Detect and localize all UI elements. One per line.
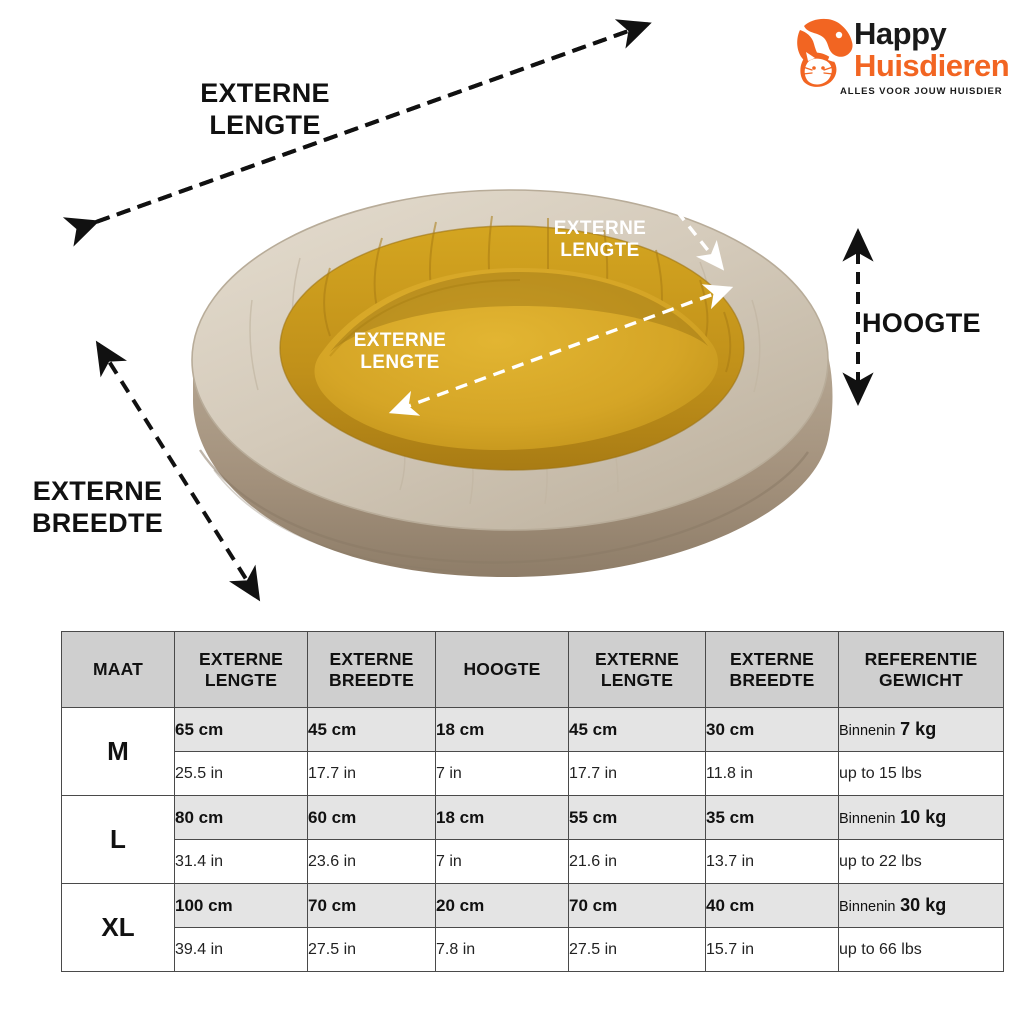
header-maat: MAAT (62, 632, 175, 708)
external-length-label: EXTERNE LENGTE (175, 78, 355, 142)
cell-xl-height-cm: 20 cm (436, 884, 569, 928)
weight-prefix-l: Binnenin (839, 811, 895, 827)
cell-xl-int-width-in: 15.7 in (706, 928, 839, 972)
cell-m-int-width-cm: 30 cm (706, 708, 839, 752)
size-label-xl: XL (62, 884, 175, 972)
cell-l-ext-width-in: 23.6 in (308, 840, 436, 884)
header-hoogte: HOOGTE (436, 632, 569, 708)
cell-l-ext-length-cm: 80 cm (175, 796, 308, 840)
cell-xl-height-in: 7.8 in (436, 928, 569, 972)
product-diagram: EXTERNE LENGTE EXTERNE BREEDTE HOOGTE EX… (0, 0, 1024, 620)
internal-length-left-label: EXTERNE LENGTE (330, 330, 470, 375)
table-row: 31.4 in 23.6 in 7 in 21.6 in 13.7 in up … (62, 840, 1004, 884)
header-referentie-gewicht: REFERENTIE GEWICHT (839, 632, 1004, 708)
table-row: XL 100 cm 70 cm 20 cm 70 cm 40 cm Binnen… (62, 884, 1004, 928)
cell-m-ext-width-in: 17.7 in (308, 752, 436, 796)
cell-l-height-cm: 18 cm (436, 796, 569, 840)
cell-xl-int-width-cm: 40 cm (706, 884, 839, 928)
cell-m-ext-length-cm: 65 cm (175, 708, 308, 752)
cell-xl-weight-lbs: up to 66 lbs (839, 928, 1004, 972)
cell-m-int-length-cm: 45 cm (569, 708, 706, 752)
table-row: 25.5 in 17.7 in 7 in 17.7 in 11.8 in up … (62, 752, 1004, 796)
cell-xl-int-length-in: 27.5 in (569, 928, 706, 972)
cell-m-weight-lbs: up to 15 lbs (839, 752, 1004, 796)
cell-l-int-width-in: 13.7 in (706, 840, 839, 884)
cell-xl-weight-kg: Binnenin 30 kg (839, 884, 1004, 928)
cell-l-int-length-in: 21.6 in (569, 840, 706, 884)
cell-xl-ext-length-in: 39.4 in (175, 928, 308, 972)
cell-l-weight-kg: Binnenin 10 kg (839, 796, 1004, 840)
cell-xl-ext-width-in: 27.5 in (308, 928, 436, 972)
weight-prefix-m: Binnenin (839, 723, 895, 739)
weight-value-m: 7 kg (900, 719, 936, 739)
header-externe-lengte: EXTERNE LENGTE (175, 632, 308, 708)
cell-xl-ext-length-cm: 100 cm (175, 884, 308, 928)
cell-m-height-in: 7 in (436, 752, 569, 796)
size-chart-page: Happy Huisdieren ALLES VOOR JOUW HUISDIE… (0, 0, 1024, 1024)
cell-m-int-length-in: 17.7 in (569, 752, 706, 796)
weight-prefix-xl: Binnenin (839, 899, 895, 915)
cell-xl-int-length-cm: 70 cm (569, 884, 706, 928)
cell-l-height-in: 7 in (436, 840, 569, 884)
size-label-l: L (62, 796, 175, 884)
table-row: 39.4 in 27.5 in 7.8 in 27.5 in 15.7 in u… (62, 928, 1004, 972)
cell-m-ext-length-in: 25.5 in (175, 752, 308, 796)
header-externe-breedte: EXTERNE BREEDTE (308, 632, 436, 708)
external-width-label: EXTERNE BREEDTE (10, 476, 185, 540)
header-interne-lengte: EXTERNE LENGTE (569, 632, 706, 708)
height-label: HOOGTE (862, 308, 1012, 340)
internal-length-right-label: EXTERNE LENGTE (530, 218, 670, 263)
table-row: L 80 cm 60 cm 18 cm 55 cm 35 cm Binnenin… (62, 796, 1004, 840)
cell-xl-ext-width-cm: 70 cm (308, 884, 436, 928)
table-row: M 65 cm 45 cm 18 cm 45 cm 30 cm Binnenin… (62, 708, 1004, 752)
cell-l-ext-width-cm: 60 cm (308, 796, 436, 840)
size-chart-table: MAAT EXTERNE LENGTE EXTERNE BREEDTE HOOG… (61, 631, 1004, 972)
cell-m-height-cm: 18 cm (436, 708, 569, 752)
cell-m-weight-kg: Binnenin 7 kg (839, 708, 1004, 752)
table-header-row: MAAT EXTERNE LENGTE EXTERNE BREEDTE HOOG… (62, 632, 1004, 708)
weight-value-l: 10 kg (900, 807, 946, 827)
cell-m-int-width-in: 11.8 in (706, 752, 839, 796)
cell-l-int-length-cm: 55 cm (569, 796, 706, 840)
cell-l-weight-lbs: up to 22 lbs (839, 840, 1004, 884)
cell-l-ext-length-in: 31.4 in (175, 840, 308, 884)
size-label-m: M (62, 708, 175, 796)
header-interne-breedte: EXTERNE BREEDTE (706, 632, 839, 708)
cell-l-int-width-cm: 35 cm (706, 796, 839, 840)
weight-value-xl: 30 kg (900, 895, 946, 915)
cell-m-ext-width-cm: 45 cm (308, 708, 436, 752)
